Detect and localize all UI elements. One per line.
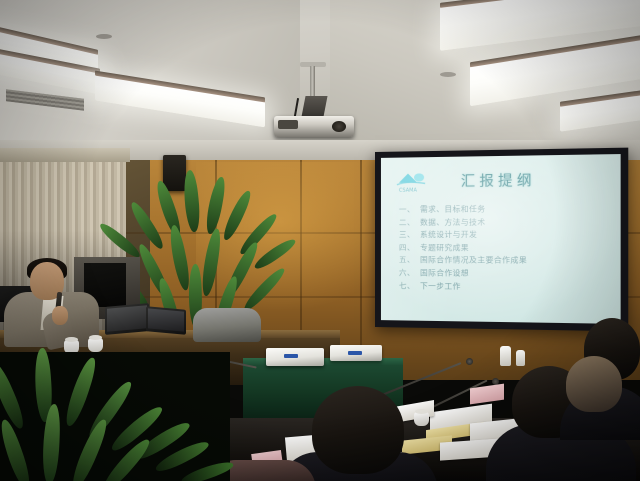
attendee-head (312, 386, 404, 474)
portable-projector (330, 345, 382, 361)
attendee-head (566, 356, 622, 412)
screen-glare (381, 154, 535, 324)
conference-room-photo: CSAMA 汇报提纲 一、需求、目标和任务 二、数据、方法与技术 三、系统设计与… (0, 0, 640, 481)
ceiling-fixture-mark (440, 72, 456, 77)
projection-screen: CSAMA 汇报提纲 一、需求、目标和任务 二、数据、方法与技术 三、系统设计与… (381, 154, 621, 324)
teacup (88, 338, 103, 352)
microphone-head-icon (466, 358, 473, 365)
pink-paper (470, 384, 504, 405)
ceiling-fixture-mark (96, 34, 112, 39)
projector-lens-icon (332, 121, 346, 132)
office-chair (193, 308, 261, 342)
ceiling-projector (274, 116, 354, 137)
presenter-hand (52, 306, 68, 325)
curtain-rail (0, 148, 130, 162)
water-bottle (516, 350, 525, 366)
teacup (414, 412, 429, 426)
laptop-computer (146, 306, 186, 334)
portable-projector (266, 348, 324, 366)
projector-mount-pole (310, 66, 315, 100)
laptop-computer (105, 303, 149, 335)
ceiling (0, 0, 640, 152)
foreground-plant (0, 352, 230, 481)
water-bottle (500, 346, 511, 366)
projection-screen-frame: CSAMA 汇报提纲 一、需求、目标和任务 二、数据、方法与技术 三、系统设计与… (375, 148, 628, 332)
